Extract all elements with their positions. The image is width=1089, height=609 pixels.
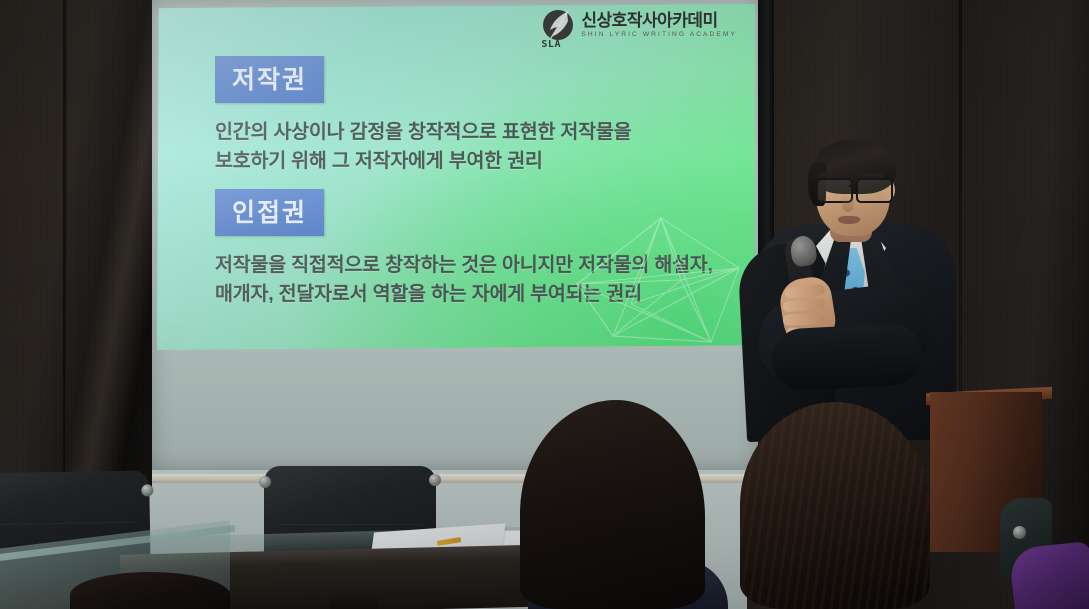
presenter-glasses [814, 178, 896, 200]
logo-mark: SLA [541, 10, 577, 52]
attendee-foreground [70, 572, 230, 609]
logo-wordmark: 신상호작사아카데미 SHIN LYRIC WRITING ACADEMY [581, 10, 737, 39]
badge-neighboring-rights: 인접권 [215, 189, 324, 236]
presenter-finger [783, 313, 824, 325]
logo-english-name: SHIN LYRIC WRITING ACADEMY [581, 32, 737, 39]
chair-seam [278, 524, 422, 526]
logo-korean-name: 신상호작사아카데미 [581, 12, 737, 29]
presentation-slide: SLA 신상호작사아카데미 SHIN LYRIC WRITING ACADEMY… [157, 4, 755, 350]
logo-monogram: SLA [541, 39, 561, 50]
wall-panel-left [0, 0, 152, 489]
polygon-network-decoration [561, 210, 755, 350]
chair-knob [429, 474, 441, 486]
chair-seam [0, 521, 135, 525]
quill-icon [544, 9, 575, 41]
attendee-hair [520, 400, 705, 609]
academy-logo: SLA 신상호작사아카데미 SHIN LYRIC WRITING ACADEMY [541, 10, 737, 52]
copyright-line-2: 보호하기 위해 그 저작자에게 부여한 권리 [215, 144, 631, 173]
chair-knob [259, 476, 271, 488]
wall-panel-left-seam [63, 0, 67, 489]
attendee-hair-waves [740, 402, 930, 609]
attendee-straight-hair [520, 400, 705, 609]
lecture-room-photo: SLA 신상호작사아카데미 SHIN LYRIC WRITING ACADEMY… [0, 0, 1089, 609]
badge-copyright: 저작권 [215, 56, 324, 103]
table-leg [330, 590, 378, 609]
copyright-line-1: 인간의 사상이나 감정을 창작적으로 표현한 저작물을 [215, 115, 631, 144]
presenter-forearm [770, 322, 923, 392]
attendee-wavy-hair [740, 402, 930, 609]
attendee-hair [70, 572, 230, 609]
presenter-nose [842, 196, 854, 212]
slide-block-copyright: 저작권 인간의 사상이나 감정을 창작적으로 표현한 저작물을 보호하기 위해 … [215, 56, 631, 173]
glasses-bridge [849, 185, 858, 187]
glasses-lens-right [856, 178, 893, 203]
chair-knob [1013, 526, 1026, 539]
presenter-mouth [838, 216, 860, 224]
